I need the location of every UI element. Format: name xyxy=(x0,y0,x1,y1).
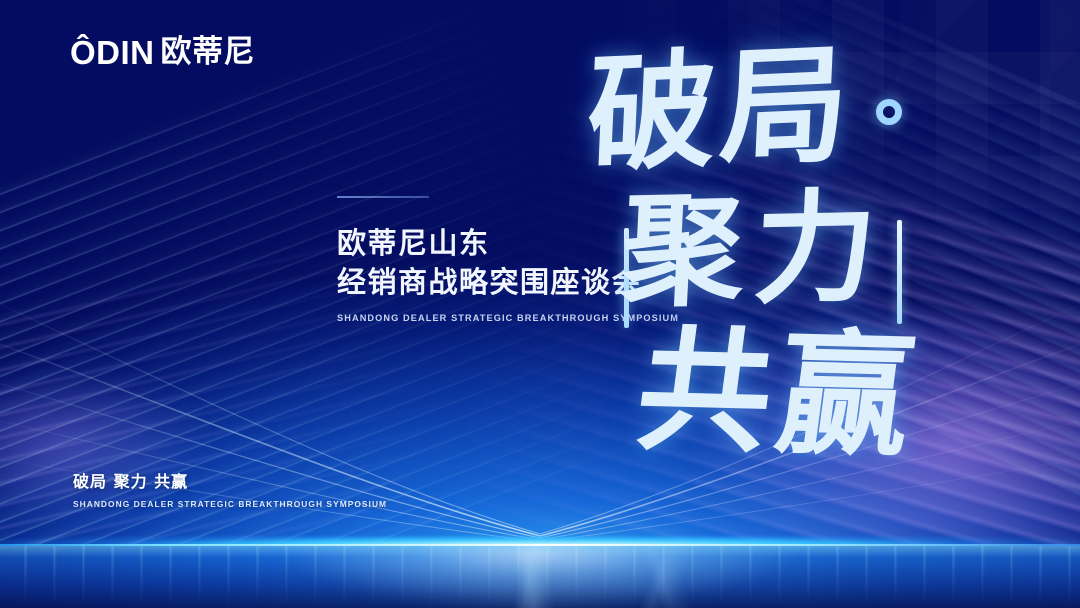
headline-calligraphy: 破局 聚力 共赢 xyxy=(560,42,1020,472)
stage-floor xyxy=(0,546,1080,608)
right-bracket-bar xyxy=(897,220,902,324)
headline-row-pojiu: 破局 xyxy=(585,44,855,177)
headline-row-juli: 聚力 xyxy=(619,189,889,310)
degree-ring-icon xyxy=(876,99,902,125)
title-divider-rule xyxy=(337,196,429,198)
brand-logo-latin: ÔDIN xyxy=(70,36,155,69)
brand-logo-chinese: 欧蒂尼 xyxy=(161,37,256,68)
floor-center-glow xyxy=(280,546,800,608)
brand-logo: ÔDIN 欧蒂尼 xyxy=(70,36,255,69)
event-backdrop-poster: ÔDIN 欧蒂尼 欧蒂尼山东 经销商战略突围座谈会 SHANDONG DEALE… xyxy=(0,0,1080,608)
footer-slogan-block: 破局 聚力 共赢 SHANDONG DEALER STRATEGIC BREAK… xyxy=(73,468,387,509)
footer-slogan-english: SHANDONG DEALER STRATEGIC BREAKTHROUGH S… xyxy=(73,499,387,509)
headline-row-gongying: 共赢 xyxy=(630,326,926,461)
footer-slogan-chinese: 破局 聚力 共赢 xyxy=(73,468,387,492)
